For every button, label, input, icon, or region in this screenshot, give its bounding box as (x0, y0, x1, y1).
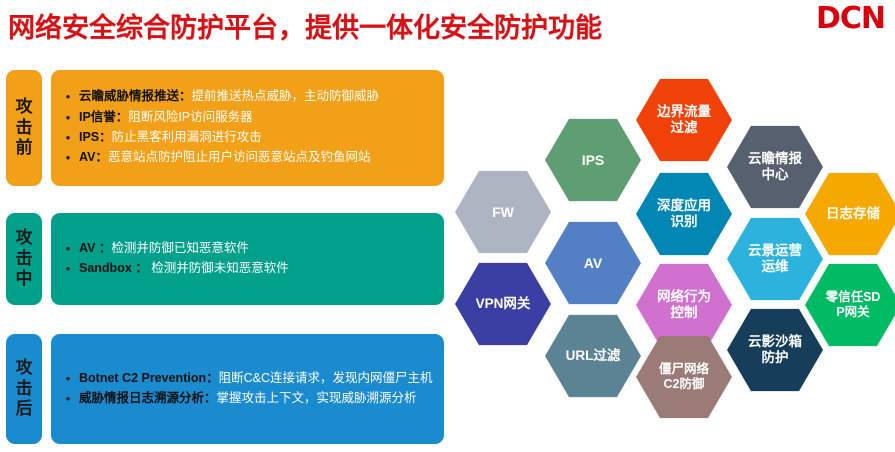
bullet-dot-icon: • (57, 390, 79, 408)
hex-label: 僵尸网络C2防御 (636, 362, 732, 392)
bullet-dot-icon: • (57, 109, 79, 127)
list-item: • AV：恶意站点防护阻止用户访问恶意站点及钓鱼网站 (57, 149, 436, 167)
hex-url[interactable]: URL过滤 (545, 314, 641, 398)
header-divider (0, 45, 895, 47)
bullet-dot-icon: • (57, 149, 79, 167)
list-item: • 云瞻威胁情报推送：提前推送热点威胁，主动防御威胁 (57, 88, 436, 106)
hex-label: 日志存储 (806, 206, 895, 222)
hex-av[interactable]: AV (545, 221, 641, 305)
hex-label: 零信任SDP网关 (805, 290, 895, 320)
hex-label: 云景运营运维 (727, 243, 823, 275)
hex-label: 云影沙箱防护 (727, 334, 823, 366)
bullet-text: AV ：检测并防御已知恶意软件 (79, 240, 249, 258)
hex-label: VPN网关 (456, 296, 551, 312)
panel-tab-label: 攻击中 (15, 228, 33, 290)
bullet-text: AV：恶意站点防护阻止用户访问恶意站点及钓鱼网站 (79, 149, 370, 167)
hex-log-storage[interactable]: 日志存储 (805, 172, 895, 256)
list-item: • IPS：防止黑客利用漏洞进行攻击 (57, 129, 436, 147)
hex-net-behavior[interactable]: 网络行为控制 (636, 263, 732, 347)
hex-cloud-sandbox[interactable]: 云影沙箱防护 (727, 308, 823, 392)
bullet-text: Botnet C2 Prevention：阻断C&C连接请求，发现内网僵尸主机 (79, 370, 433, 388)
brand-logo-dcn: DCN (816, 1, 885, 36)
list-item: • Botnet C2 Prevention：阻断C&C连接请求，发现内网僵尸主… (57, 370, 436, 388)
hex-zero-trust[interactable]: 零信任SDP网关 (805, 263, 895, 347)
panel-during-attack: 攻击中 • AV ：检测并防御已知恶意软件 • Sandbox ： 检测并防御未… (6, 213, 444, 305)
hex-ips[interactable]: IPS (545, 118, 641, 202)
bullet-dot-icon: • (57, 260, 79, 278)
hex-cloud-ops[interactable]: 云景运营运维 (727, 217, 823, 301)
bullet-text: 云瞻威胁情报推送：提前推送热点威胁，主动防御威胁 (79, 88, 379, 106)
hex-label: 边界流量过滤 (636, 104, 732, 136)
hex-label: 网络行为控制 (636, 289, 732, 321)
bullet-dot-icon: • (57, 240, 79, 258)
hex-label: IPS (562, 152, 625, 169)
panel-tab-label: 攻击后 (15, 358, 33, 420)
hex-border-flow[interactable]: 边界流量过滤 (636, 78, 732, 162)
hex-deep-app[interactable]: 深度应用识别 (636, 172, 732, 256)
header-bar: 网络安全综合防护平台，提供一体化安全防护功能 DCN (0, 0, 895, 46)
panel-body-before-attack: • 云瞻威胁情报推送：提前推送热点威胁，主动防御威胁 • IP信誉：阻断风险IP… (51, 70, 444, 186)
bullet-text: IP信誉：阻断风险IP访问服务器 (79, 109, 253, 127)
hex-label: FW (472, 204, 534, 221)
panel-after-attack: 攻击后 • Botnet C2 Prevention：阻断C&C连接请求，发现内… (6, 334, 444, 444)
list-item: • AV ：检测并防御已知恶意软件 (57, 240, 436, 258)
panel-tab-during-attack[interactable]: 攻击中 (6, 213, 42, 305)
list-item: • IP信誉：阻断风险IP访问服务器 (57, 109, 436, 127)
bullet-dot-icon: • (57, 129, 79, 147)
hex-botnet-c2[interactable]: 僵尸网络C2防御 (636, 335, 732, 419)
hex-cloud-intel[interactable]: 云瞻情报中心 (727, 125, 823, 209)
hexagon-capability-cluster: FWIPSVPN网关AVURL过滤边界流量过滤深度应用识别网络行为控制僵尸网络C… (450, 55, 895, 452)
hex-vpn[interactable]: VPN网关 (455, 262, 551, 346)
hex-fw[interactable]: FW (455, 170, 551, 254)
hex-label: URL过滤 (546, 348, 641, 364)
bullet-dot-icon: • (57, 370, 79, 388)
list-item: • 威胁情报日志溯源分析：掌握攻击上下文，实现威胁溯源分析 (57, 390, 436, 408)
panel-tab-after-attack[interactable]: 攻击后 (6, 334, 42, 444)
panel-before-attack: 攻击前 • 云瞻威胁情报推送：提前推送热点威胁，主动防御威胁 • IP信誉：阻断… (6, 70, 444, 186)
panel-tab-label: 攻击前 (15, 97, 33, 159)
hex-label: 云瞻情报中心 (727, 151, 823, 183)
bullet-text: Sandbox ： 检测并防御未知恶意软件 (79, 260, 289, 278)
bullet-text: 威胁情报日志溯源分析：掌握攻击上下文，实现威胁溯源分析 (79, 390, 417, 408)
bullet-dot-icon: • (57, 88, 79, 106)
page-title: 网络安全综合防护平台，提供一体化安全防护功能 (8, 6, 602, 45)
panel-tab-before-attack[interactable]: 攻击前 (6, 70, 42, 186)
bullet-text: IPS：防止黑客利用漏洞进行攻击 (79, 129, 262, 147)
hex-label: AV (564, 255, 622, 272)
panel-body-during-attack: • AV ：检测并防御已知恶意软件 • Sandbox ： 检测并防御未知恶意软… (51, 213, 444, 305)
panel-body-after-attack: • Botnet C2 Prevention：阻断C&C连接请求，发现内网僵尸主… (51, 334, 444, 444)
hex-label: 深度应用识别 (636, 198, 732, 230)
list-item: • Sandbox ： 检测并防御未知恶意软件 (57, 260, 436, 278)
